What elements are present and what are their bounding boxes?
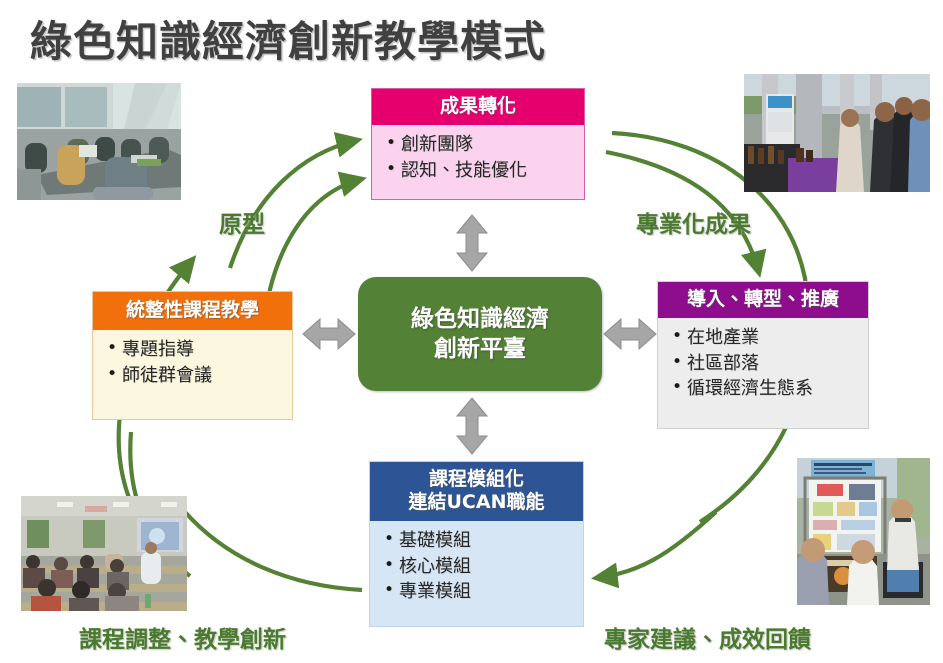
connector-center-left (301, 314, 357, 354)
node-bottom-header-line1: 課程模組化 (374, 468, 579, 491)
node-course-modularization[interactable]: 課程模組化 連結UCAN職能 基礎模組 核心模組 專業模組 (369, 461, 584, 627)
flow-label-prototype: 原型 (219, 205, 265, 239)
flow-label-professional-outcome: 專業化成果 (636, 205, 751, 239)
flow-label-curriculum-adjustment: 課程調整、教學創新 (79, 620, 286, 654)
list-item: 社區部落 (672, 351, 862, 377)
connector-center-bottom (452, 396, 492, 456)
center-hub-green-knowledge-platform[interactable]: 綠色知識經濟 創新平臺 (358, 277, 602, 391)
node-integrated-curriculum[interactable]: 統整性課程教學 專題指導 師徒群會議 (92, 291, 293, 420)
node-bottom-body: 基礎模組 核心模組 專業模組 (370, 521, 583, 626)
arc-bottom-left-cycle (185, 512, 362, 590)
list-item: 基礎模組 (384, 528, 577, 554)
poster-presentation-booth-photo (797, 458, 930, 605)
node-top-body: 創新團隊 認知、技能優化 (372, 125, 584, 199)
hub-line2: 創新平臺 (411, 334, 549, 364)
diagram-canvas: 綠色知識經濟創新教學模式 (0, 0, 943, 663)
meeting-room-discussion-photo (17, 83, 181, 200)
list-item: 認知、技能優化 (386, 158, 578, 184)
hub-text: 綠色知識經濟 創新平臺 (411, 304, 549, 365)
node-right-body: 在地產業 社區部落 循環經濟生態系 (658, 318, 868, 428)
node-top-header: 成果轉化 (372, 89, 584, 125)
hub-line1: 綠色知識經濟 (411, 304, 549, 334)
node-left-body: 專題指導 師徒群會議 (93, 330, 292, 419)
node-bottom-header-line2: 連結UCAN職能 (374, 491, 579, 514)
list-item: 核心模組 (384, 554, 577, 580)
node-right-header: 導入、轉型、推廣 (658, 282, 868, 318)
arc-left-to-top-box (230, 140, 358, 268)
connector-center-top (452, 213, 492, 273)
classroom-lecture-photo (21, 496, 187, 611)
flow-label-expert-feedback: 專家建議、成效回饋 (604, 620, 811, 654)
list-item: 師徒群會議 (107, 363, 286, 389)
node-left-header: 統整性課程教學 (93, 292, 292, 330)
list-item: 在地產業 (672, 325, 862, 351)
list-item: 專業模組 (384, 579, 577, 605)
arc-right-to-bottom-box (596, 512, 716, 578)
node-outcome-transformation[interactable]: 成果轉化 創新團隊 認知、技能優化 (371, 88, 585, 200)
node-bottom-header: 課程模組化 連結UCAN職能 (370, 462, 583, 521)
list-item: 循環經濟生態系 (672, 376, 862, 402)
list-item: 專題指導 (107, 337, 286, 363)
connector-center-right (602, 314, 658, 354)
node-introduce-transform-promote[interactable]: 導入、轉型、推廣 在地產業 社區部落 循環經濟生態系 (657, 281, 869, 429)
list-item: 創新團隊 (386, 132, 578, 158)
outdoor-exhibition-booth-photo (744, 74, 930, 192)
